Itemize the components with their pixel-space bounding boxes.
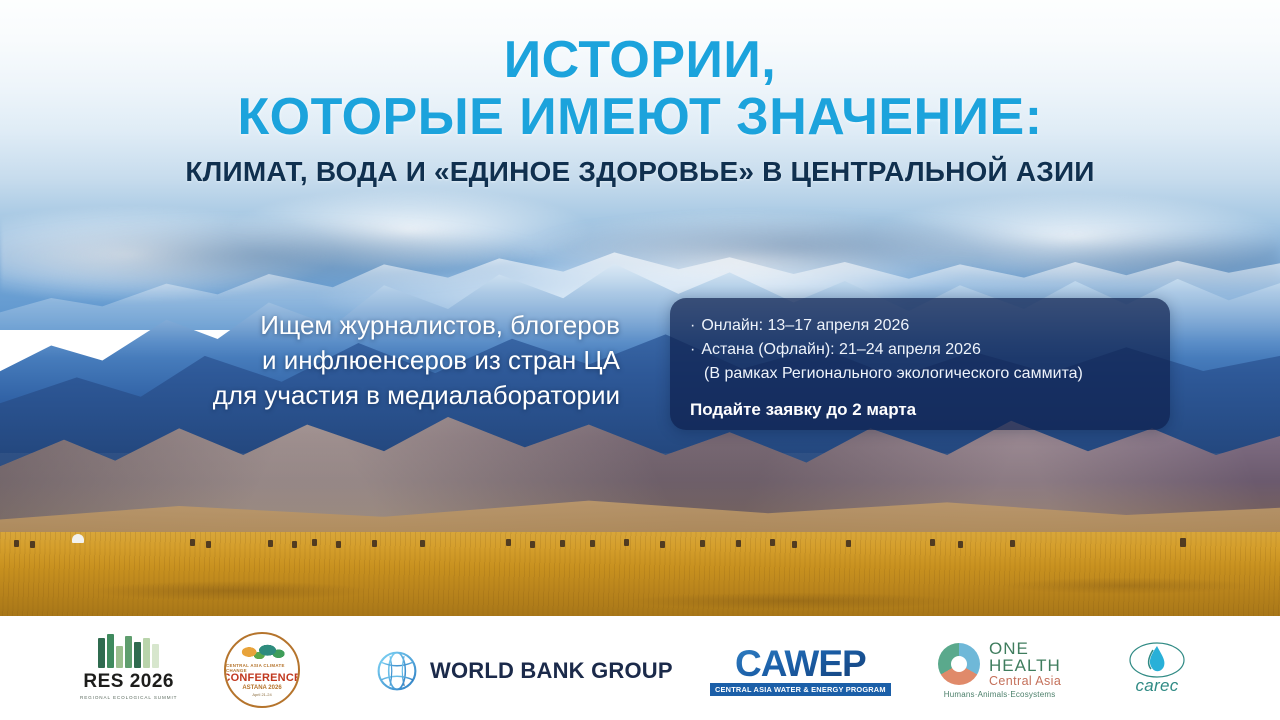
application-deadline-text: Подайте заявку до 2 марта (690, 400, 1150, 420)
headline-line-1: ИСТОРИИ, (0, 34, 1280, 87)
one-health-line-1: ONE (989, 640, 1061, 657)
logo-one-health-central-asia: ONE HEALTH Central Asia Humans·Animals·E… (938, 640, 1061, 699)
headline-line-2: КОТОРЫЕ ИМЕЮТ ЗНАЧЕНИЕ: (0, 91, 1280, 144)
grazing-livestock (0, 536, 1280, 552)
one-health-subtitle: Humans·Animals·Ecosystems (944, 690, 1056, 699)
cawep-subtitle: CENTRAL ASIA WATER & ENERGY PROGRAM (710, 683, 891, 696)
lead-line-3: для участия в медиалаборатории (90, 378, 620, 413)
event-online-text: Онлайн: 13–17 апреля 2026 (701, 317, 909, 334)
headline-subtitle: КЛИМАТ, ВОДА И «ЕДИНОЕ ЗДОРОВЬЕ» В ЦЕНТР… (0, 156, 1280, 188)
headline-block: ИСТОРИИ, КОТОРЫЕ ИМЕЮТ ЗНАЧЕНИЕ: КЛИМАТ,… (0, 34, 1280, 188)
event-offline-text: Астана (Офлайн): 21–24 апреля 2026 (701, 341, 981, 358)
logo-climate-conference: CENTRAL ASIA CLIMATE CHANGE CONFERENCE A… (224, 632, 300, 708)
res-title: RES 2026 (83, 671, 174, 693)
event-online-row: ·Онлайн: 13–17 апреля 2026 (690, 314, 1150, 338)
conference-line-3: ASTANA 2026 (242, 685, 281, 691)
res-mark-icon (98, 634, 159, 668)
lead-line-2: и инфлюенсеров из стран ЦА (90, 343, 620, 378)
lead-copy: Ищем журналистов, блогеров и инфлюенсеро… (90, 308, 620, 412)
conference-line-2: CONFERENCE (224, 673, 300, 684)
conference-badge-icon: CENTRAL ASIA CLIMATE CHANGE CONFERENCE A… (224, 632, 300, 708)
event-offline-row: ·Астана (Офлайн): 21–24 апреля 2026 (690, 338, 1150, 362)
logo-carec: carec (1128, 640, 1186, 696)
water-droplet-icon (1128, 640, 1186, 680)
conference-line-4: April 21-24 (252, 692, 271, 697)
bullet-icon: · (690, 317, 695, 334)
event-offline-note: (В рамках Регионального экологического с… (690, 362, 1150, 386)
one-health-line-3: Central Asia (989, 675, 1061, 688)
central-asia-map-icon (239, 641, 285, 663)
globe-icon (376, 650, 418, 692)
bullet-icon: · (690, 341, 695, 358)
lead-line-1: Ищем журналистов, блогеров (90, 308, 620, 343)
logo-cawep: CAWEP CENTRAL ASIA WATER & ENERGY PROGRA… (710, 646, 891, 696)
promotional-banner: ИСТОРИИ, КОТОРЫЕ ИМЕЮТ ЗНАЧЕНИЕ: КЛИМАТ,… (0, 0, 1280, 720)
world-bank-name: WORLD BANK GROUP (430, 658, 673, 684)
event-details-box: ·Онлайн: 13–17 апреля 2026 ·Астана (Офла… (670, 298, 1170, 430)
res-subtitle: REGIONAL ECOLOGICAL SUMMIT (80, 695, 177, 700)
partner-logo-footer: RES 2026 REGIONAL ECOLOGICAL SUMMIT CENT… (0, 616, 1280, 720)
one-health-line-2: HEALTH (989, 657, 1061, 674)
one-health-triskelion-icon (938, 643, 980, 685)
logo-res-2026: RES 2026 REGIONAL ECOLOGICAL SUMMIT (80, 634, 177, 700)
logo-world-bank-group: WORLD BANK GROUP (376, 650, 673, 692)
cawep-acronym: CAWEP (735, 646, 866, 681)
